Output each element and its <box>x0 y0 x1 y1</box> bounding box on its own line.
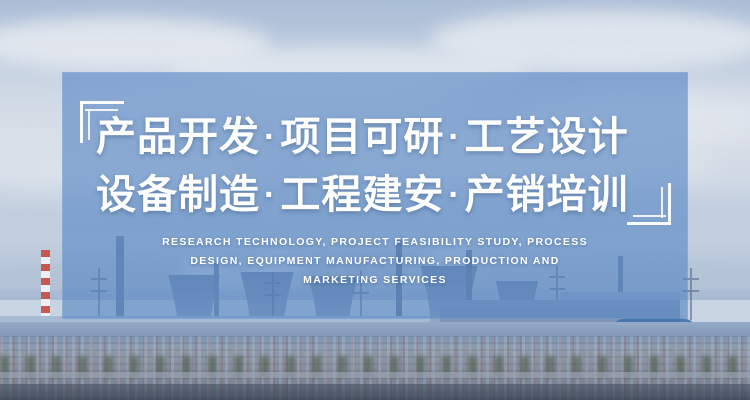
roadway <box>0 372 750 378</box>
headline-line-2: 设备制造·工程建安·产销培训 <box>96 166 666 224</box>
headline-separator: · <box>260 118 280 156</box>
subtitle: RESEARCH TECHNOLOGY, PROJECT FEASIBILITY… <box>112 233 638 290</box>
headline-term-1: 产品开发 <box>96 115 260 159</box>
headline: 产品开发·项目可研·工艺设计 设备制造·工程建安·产销培训 <box>96 108 666 224</box>
foreground-shadow <box>0 384 750 400</box>
headline-term-6: 产销培训 <box>465 173 629 217</box>
cloud <box>430 10 750 70</box>
headline-separator: · <box>444 176 464 214</box>
subtitle-line-1: RESEARCH TECHNOLOGY, PROJECT FEASIBILITY… <box>112 233 638 252</box>
subtitle-line-2: DESIGN, EQUIPMENT MANUFACTURING, PRODUCT… <box>112 252 638 271</box>
power-pylon <box>690 268 692 320</box>
headline-term-3: 工艺设计 <box>465 115 629 159</box>
striped-chimney <box>41 250 50 326</box>
headline-line-1: 产品开发·项目可研·工艺设计 <box>96 108 666 166</box>
headline-separator: · <box>260 176 280 214</box>
headline-term-4: 设备制造 <box>96 173 260 217</box>
promo-banner: 产品开发·项目可研·工艺设计 设备制造·工程建安·产销培训 RESEARCH T… <box>0 0 750 400</box>
subtitle-line-3: MARKETING SERVICES <box>112 271 638 290</box>
headline-separator: · <box>444 118 464 156</box>
headline-term-2: 项目可研 <box>280 115 444 159</box>
headline-term-5: 工程建安 <box>280 173 444 217</box>
